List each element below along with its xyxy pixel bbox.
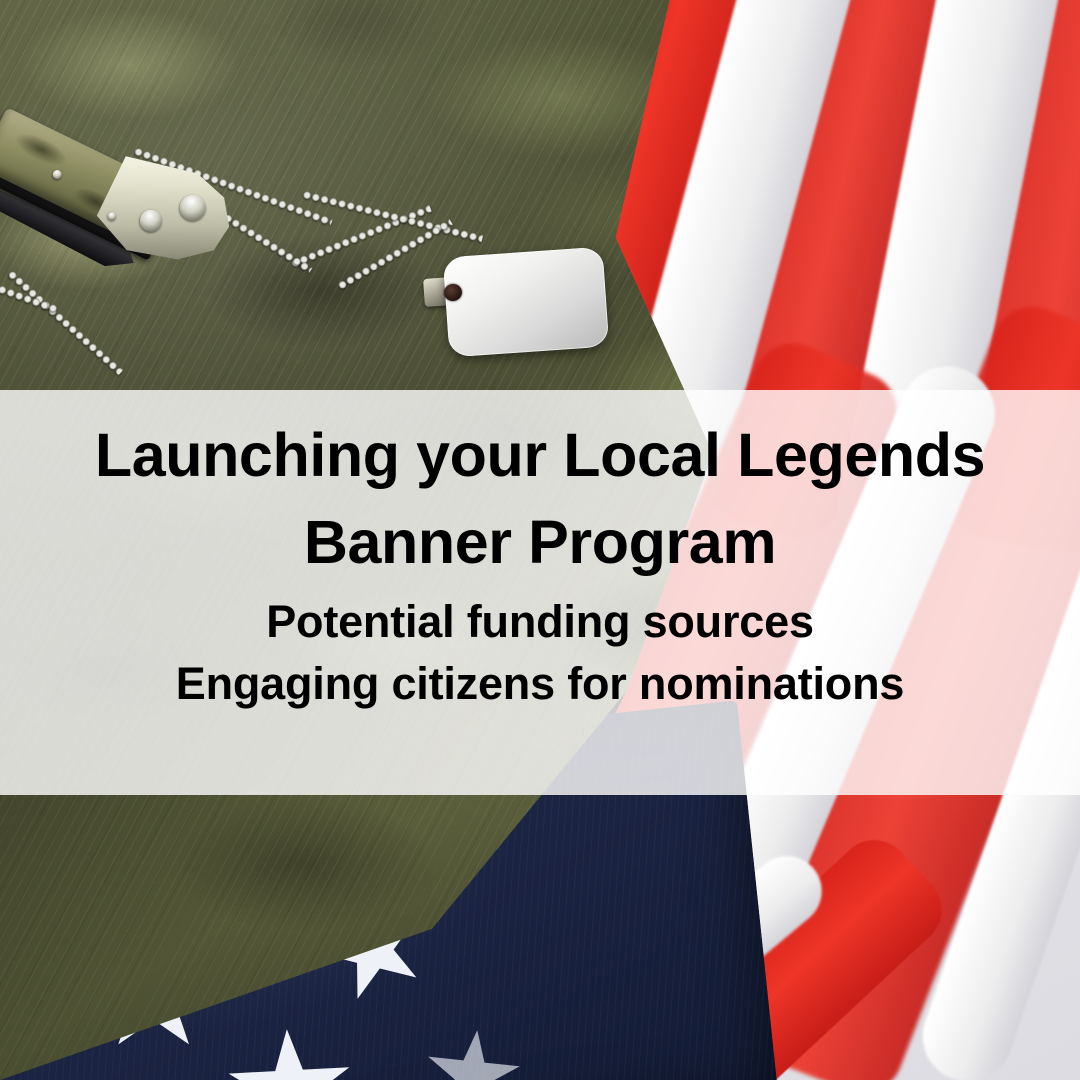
- page-title: Launching your Local Legends Banner Prog…: [0, 412, 1080, 585]
- poster-canvas: Launching your Local Legends Banner Prog…: [0, 0, 1080, 1080]
- subheading-citizen-nominations: Engaging citizens for nominations: [176, 653, 904, 715]
- subheading-funding-sources: Potential funding sources: [176, 591, 904, 653]
- page-title-line-1: Launching your Local Legends: [0, 412, 1080, 499]
- subheading-group: Potential funding sources Engaging citiz…: [176, 591, 904, 715]
- text-overlay-panel: Launching your Local Legends Banner Prog…: [0, 390, 1080, 795]
- dog-tag: [443, 247, 610, 358]
- page-title-line-2: Banner Program: [0, 499, 1080, 586]
